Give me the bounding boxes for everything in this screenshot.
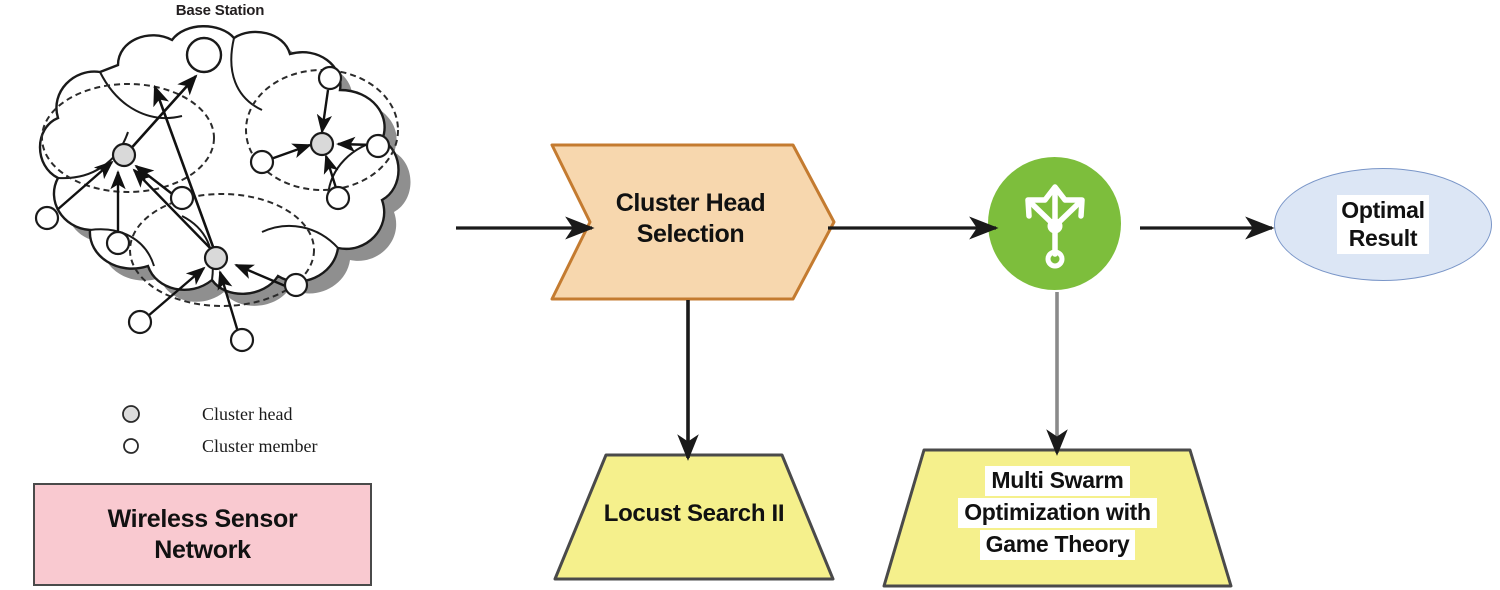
flow-diagram-canvas: Base Station: [0, 0, 1500, 590]
cluster-head-2: [311, 133, 333, 155]
legend-label-cluster-head: Cluster head: [202, 404, 292, 425]
cluster-head-3: [205, 247, 227, 269]
base-station-node: [187, 38, 221, 72]
multi-swarm-label: Multi Swarm Optimization with Game Theor…: [881, 465, 1234, 561]
cluster-member-c2-2: [251, 151, 273, 173]
branching-arrows-icon: [1015, 178, 1095, 270]
wireless-sensor-network-label: Wireless Sensor Network: [108, 504, 298, 565]
locust-search-label: Locust Search II: [552, 500, 836, 528]
hollow-circle-icon: [118, 433, 144, 459]
legend-item-cluster-head: Cluster head: [118, 398, 418, 430]
cluster-member-c3-3: [285, 274, 307, 296]
locust-search-node[interactable]: Locust Search II: [552, 452, 836, 582]
multi-swarm-label-line-1: Multi Swarm: [985, 466, 1129, 496]
legend: Cluster head Cluster member: [118, 398, 418, 462]
optimal-result-node[interactable]: Optimal Result: [1274, 168, 1492, 281]
multi-swarm-label-line-2: Optimization with: [958, 498, 1157, 528]
multi-swarm-node[interactable]: Multi Swarm Optimization with Game Theor…: [881, 447, 1234, 589]
cluster-member-c1-1: [36, 207, 58, 229]
cluster-member-c3-2: [231, 329, 253, 351]
optimizer-node[interactable]: [988, 157, 1121, 290]
legend-label-cluster-member: Cluster member: [202, 436, 317, 457]
cluster-member-c2-3: [367, 135, 389, 157]
wireless-sensor-network-box[interactable]: Wireless Sensor Network: [33, 483, 372, 586]
base-station-label: Base Station: [140, 2, 300, 19]
cluster-member-c2-4: [327, 187, 349, 209]
legend-item-cluster-member: Cluster member: [118, 430, 418, 462]
cluster-head-selection-label: Cluster Head Selection: [578, 188, 803, 251]
cluster-member-c2-1: [319, 67, 341, 89]
wireless-sensor-network-cloud: [0, 20, 450, 380]
multi-swarm-label-line-3: Game Theory: [980, 530, 1136, 560]
optimal-result-label: Optimal Result: [1337, 195, 1429, 254]
cluster-member-c1-3: [171, 187, 193, 209]
cluster-head-selection-node[interactable]: Cluster Head Selection: [548, 142, 838, 302]
cluster-head-1: [113, 144, 135, 166]
filled-circle-icon: [118, 401, 144, 427]
cluster-member-c1-2: [107, 232, 129, 254]
cluster-member-c3-1: [129, 311, 151, 333]
